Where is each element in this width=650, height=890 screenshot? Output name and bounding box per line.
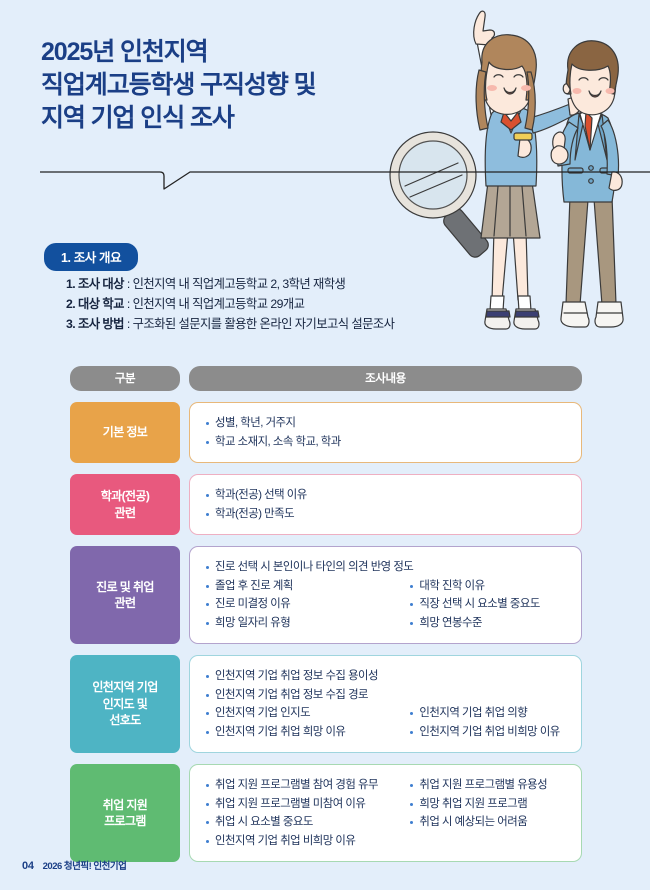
- content-bullet: 인천지역 기업 취업 비희망 이유: [410, 723, 571, 742]
- row-content-box: 진로 선택 시 본인이나 타인의 의견 반영 정도졸업 후 진로 계획진로 미결…: [189, 546, 582, 644]
- table-row: 학과(전공)관련학과(전공) 선택 이유학과(전공) 만족도: [70, 474, 582, 535]
- survey-overview-list: 1. 조사 대상 : 인천지역 내 직업계고등학교 2, 3학년 재학생 2. …: [66, 274, 394, 334]
- content-column-right: 취업 지원 프로그램별 유용성희망 취업 지원 프로그램취업 시 예상되는 어려…: [410, 776, 571, 832]
- row-category-label: 학과(전공)관련: [70, 474, 180, 535]
- row-category-text: 취업 지원프로그램: [103, 797, 148, 830]
- content-bullet: 인천지역 기업 취업 정보 수집 경로: [206, 686, 571, 705]
- row-category-text: 기본 정보: [103, 424, 148, 441]
- title-line-3: 지역 기업 인식 조사: [41, 102, 316, 135]
- row-category-text: 인천지역 기업인지도 및선호도: [92, 679, 157, 729]
- row-category-label: 기본 정보: [70, 402, 180, 463]
- content-bullet: 대학 진학 이유: [410, 577, 571, 596]
- content-bullet: 진로 미결정 이유: [206, 595, 410, 614]
- overview-item-1: 1. 조사 대상 : 인천지역 내 직업계고등학교 2, 3학년 재학생: [66, 274, 394, 294]
- content-bullet: 희망 연봉수준: [410, 614, 571, 633]
- overview-item-1-sep: :: [124, 277, 133, 291]
- overview-item-2: 2. 대상 학교 : 인천지역 내 직업계고등학교 29개교: [66, 294, 394, 314]
- overview-item-2-sep: :: [124, 297, 133, 311]
- content-bullet: 인천지역 기업 취업 비희망 이유: [206, 832, 571, 851]
- overview-item-3-value: 구조화된 설문지를 활용한 온라인 자기보고식 설문조사: [133, 317, 395, 331]
- table-row: 인천지역 기업인지도 및선호도인천지역 기업 취업 정보 수집 용이성인천지역 …: [70, 655, 582, 753]
- content-column-trailing: 인천지역 기업 취업 비희망 이유: [206, 832, 571, 851]
- content-bullet: 희망 취업 지원 프로그램: [410, 795, 571, 814]
- content-column-right: 대학 진학 이유직장 선택 시 요소별 중요도희망 연봉수준: [410, 577, 571, 633]
- page-footer: 04 2026 청년픽! 인천기업: [22, 858, 126, 872]
- section-badge: 1. 조사 개요: [44, 243, 138, 271]
- row-category-label: 진로 및 취업관련: [70, 546, 180, 644]
- row-content-box: 성별, 학년, 거주지학교 소재지, 소속 학교, 학과: [189, 402, 582, 463]
- content-bullet: 취업 시 요소별 중요도: [206, 813, 410, 832]
- overview-item-1-num: 1.: [66, 277, 75, 291]
- content-bullet: 학교 소재지, 소속 학교, 학과: [206, 433, 571, 452]
- content-bullet: 인천지역 기업 취업 희망 이유: [206, 723, 410, 742]
- title-line-2: 직업계고등학생 구직성향 및: [41, 69, 316, 102]
- title-divider: [0, 160, 650, 200]
- content-column-left: 졸업 후 진로 계획진로 미결정 이유희망 일자리 유형: [206, 577, 410, 633]
- overview-item-3-sep: :: [124, 317, 133, 331]
- table-row: 기본 정보성별, 학년, 거주지학교 소재지, 소속 학교, 학과: [70, 402, 582, 463]
- content-bullet: 학과(전공) 만족도: [206, 505, 571, 524]
- row-content-box: 인천지역 기업 취업 정보 수집 용이성인천지역 기업 취업 정보 수집 경로인…: [189, 655, 582, 753]
- content-bullet: 인천지역 기업 취업 정보 수집 용이성: [206, 667, 571, 686]
- content-bullet: 성별, 학년, 거주지: [206, 414, 571, 433]
- table-row: 취업 지원프로그램취업 지원 프로그램별 참여 경험 유무취업 지원 프로그램별…: [70, 764, 582, 862]
- row-content-box: 학과(전공) 선택 이유학과(전공) 만족도: [189, 474, 582, 535]
- table-body: 기본 정보성별, 학년, 거주지학교 소재지, 소속 학교, 학과학과(전공)관…: [70, 402, 582, 862]
- content-bullet: 인천지역 기업 취업 의향: [410, 704, 571, 723]
- title-line-1: 2025년 인천지역: [41, 36, 316, 69]
- row-content-box: 취업 지원 프로그램별 참여 경험 유무취업 지원 프로그램별 미참여 이유취업…: [189, 764, 582, 862]
- row-category-label: 인천지역 기업인지도 및선호도: [70, 655, 180, 753]
- content-bullet: 졸업 후 진로 계획: [206, 577, 410, 596]
- table-header-content: 조사내용: [189, 366, 582, 391]
- overview-item-2-label: 대상 학교: [78, 297, 124, 311]
- content-bullet: 취업 지원 프로그램별 참여 경험 유무: [206, 776, 410, 795]
- footer-publication: 2026 청년픽! 인천기업: [43, 858, 127, 872]
- overview-item-2-value: 인천지역 내 직업계고등학교 29개교: [133, 297, 305, 311]
- content-column: 성별, 학년, 거주지학교 소재지, 소속 학교, 학과: [206, 414, 571, 451]
- content-column-right: 인천지역 기업 취업 의향인천지역 기업 취업 비희망 이유: [410, 704, 571, 741]
- content-column-full: 인천지역 기업 취업 정보 수집 용이성인천지역 기업 취업 정보 수집 경로: [206, 667, 571, 704]
- overview-item-1-label: 조사 대상: [78, 277, 124, 291]
- content-bullet: 희망 일자리 유형: [206, 614, 410, 633]
- overview-item-1-value: 인천지역 내 직업계고등학교 2, 3학년 재학생: [133, 277, 346, 291]
- content-bullet: 인천지역 기업 인지도: [206, 704, 410, 723]
- table-header-row: 구분 조사내용: [70, 366, 582, 391]
- students-illustration: [380, 0, 650, 345]
- table-row: 진로 및 취업관련진로 선택 시 본인이나 타인의 의견 반영 정도졸업 후 진…: [70, 546, 582, 644]
- footer-page-number: 04: [22, 860, 34, 872]
- overview-item-3-num: 3.: [66, 317, 75, 331]
- content-bullet: 진로 선택 시 본인이나 타인의 의견 반영 정도: [206, 558, 571, 577]
- survey-content-table: 구분 조사내용 기본 정보성별, 학년, 거주지학교 소재지, 소속 학교, 학…: [70, 366, 582, 873]
- content-bullet: 취업 시 예상되는 어려움: [410, 813, 571, 832]
- content-bullet: 직장 선택 시 요소별 중요도: [410, 595, 571, 614]
- page-title: 2025년 인천지역 직업계고등학생 구직성향 및 지역 기업 인식 조사: [41, 36, 316, 135]
- overview-item-2-num: 2.: [66, 297, 75, 311]
- row-category-text: 진로 및 취업관련: [96, 579, 154, 612]
- content-bullet: 취업 지원 프로그램별 유용성: [410, 776, 571, 795]
- row-category-label: 취업 지원프로그램: [70, 764, 180, 862]
- row-category-text: 학과(전공)관련: [101, 488, 150, 521]
- content-bullet: 학과(전공) 선택 이유: [206, 486, 571, 505]
- content-bullet: 취업 지원 프로그램별 미참여 이유: [206, 795, 410, 814]
- content-column-left: 취업 지원 프로그램별 참여 경험 유무취업 지원 프로그램별 미참여 이유취업…: [206, 776, 410, 832]
- page-header: 2025년 인천지역 직업계고등학생 구직성향 및 지역 기업 인식 조사: [0, 0, 650, 230]
- overview-item-3-label: 조사 방법: [78, 317, 124, 331]
- table-header-category: 구분: [70, 366, 180, 391]
- content-column-left: 인천지역 기업 인지도인천지역 기업 취업 희망 이유: [206, 704, 410, 741]
- content-column-full: 진로 선택 시 본인이나 타인의 의견 반영 정도: [206, 558, 571, 577]
- overview-item-3: 3. 조사 방법 : 구조화된 설문지를 활용한 온라인 자기보고식 설문조사: [66, 314, 394, 334]
- content-column: 학과(전공) 선택 이유학과(전공) 만족도: [206, 486, 571, 523]
